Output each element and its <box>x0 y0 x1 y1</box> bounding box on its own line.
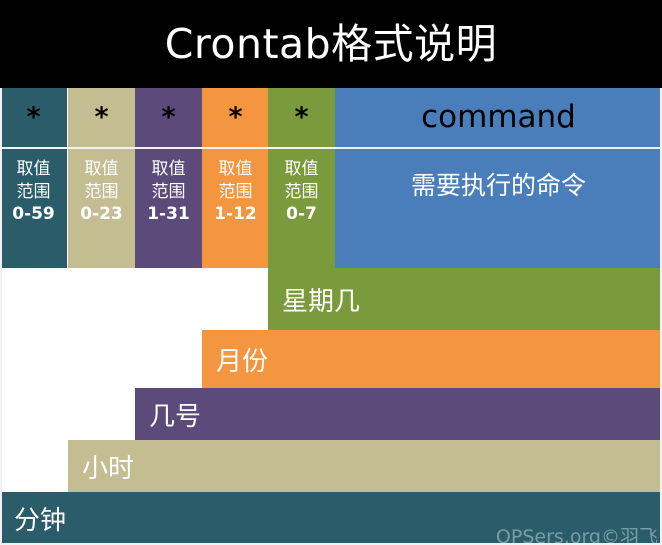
command-description: 需要执行的命令 <box>335 149 662 268</box>
range-value: 0-23 <box>80 203 123 226</box>
range-line-2: 范围 <box>85 181 119 204</box>
step-block-hour: 小时 <box>68 440 662 492</box>
step-label-minute: 分钟 <box>14 500 66 537</box>
step-block-day-of-month: 几号 <box>135 388 662 440</box>
field-column-hour: * 取值 范围 0-23 <box>68 88 135 268</box>
range-day-of-month: 取值 范围 1-31 <box>135 149 202 268</box>
asterisk-day-of-month: * <box>135 88 202 147</box>
range-line-2: 范围 <box>152 181 186 204</box>
step-label-day-of-month: 几号 <box>149 396 201 433</box>
asterisk-month: * <box>202 88 269 147</box>
command-heading: command <box>335 88 662 147</box>
range-line-1: 取值 <box>85 158 119 181</box>
range-value: 0-7 <box>286 203 317 226</box>
range-line-1: 取值 <box>285 158 319 181</box>
header-row-separator <box>0 147 662 149</box>
range-line-1: 取值 <box>17 158 51 181</box>
step-label-month: 月份 <box>216 341 268 378</box>
range-day-of-week: 取值 范围 0-7 <box>268 149 335 268</box>
range-value: 0-59 <box>12 203 55 226</box>
field-column-day-of-month: * 取值 范围 1-31 <box>135 88 202 268</box>
step-label-day-of-week: 星期几 <box>282 281 360 318</box>
asterisk-minute: * <box>0 88 67 147</box>
field-column-month: * 取值 范围 1-12 <box>202 88 269 268</box>
range-minute: 取值 范围 0-59 <box>0 149 67 268</box>
range-month: 取值 范围 1-12 <box>202 149 269 268</box>
step-label-hour: 小时 <box>82 448 134 485</box>
title-bar: Crontab格式说明 <box>0 0 662 88</box>
range-value: 1-31 <box>147 203 190 226</box>
range-line-1: 取值 <box>219 158 253 181</box>
range-line-2: 范围 <box>219 181 253 204</box>
range-line-1: 取值 <box>152 158 186 181</box>
step-block-month: 月份 <box>202 330 662 388</box>
asterisk-hour: * <box>68 88 135 147</box>
range-line-2: 范围 <box>17 181 51 204</box>
crontab-format-diagram: Crontab格式说明 * 取值 范围 0-59 * 取值 范围 0-23 * … <box>0 0 662 545</box>
field-column-day-of-week: * 取值 范围 0-7 <box>268 88 335 268</box>
step-block-day-of-week: 星期几 <box>268 268 662 330</box>
field-column-minute: * 取值 范围 0-59 <box>0 88 67 268</box>
page-title: Crontab格式说明 <box>165 24 497 65</box>
step-block-minute: 分钟 OPSers.org©羽飞 <box>0 492 662 545</box>
range-line-2: 范围 <box>285 181 319 204</box>
range-hour: 取值 范围 0-23 <box>68 149 135 268</box>
command-column: command 需要执行的命令 <box>335 88 662 268</box>
crontab-field-table: * 取值 范围 0-59 * 取值 范围 0-23 * 取值 范围 1-31 <box>0 88 662 268</box>
range-value: 1-12 <box>214 203 257 226</box>
asterisk-day-of-week: * <box>268 88 335 147</box>
watermark: OPSers.org©羽飞 <box>496 522 658 545</box>
